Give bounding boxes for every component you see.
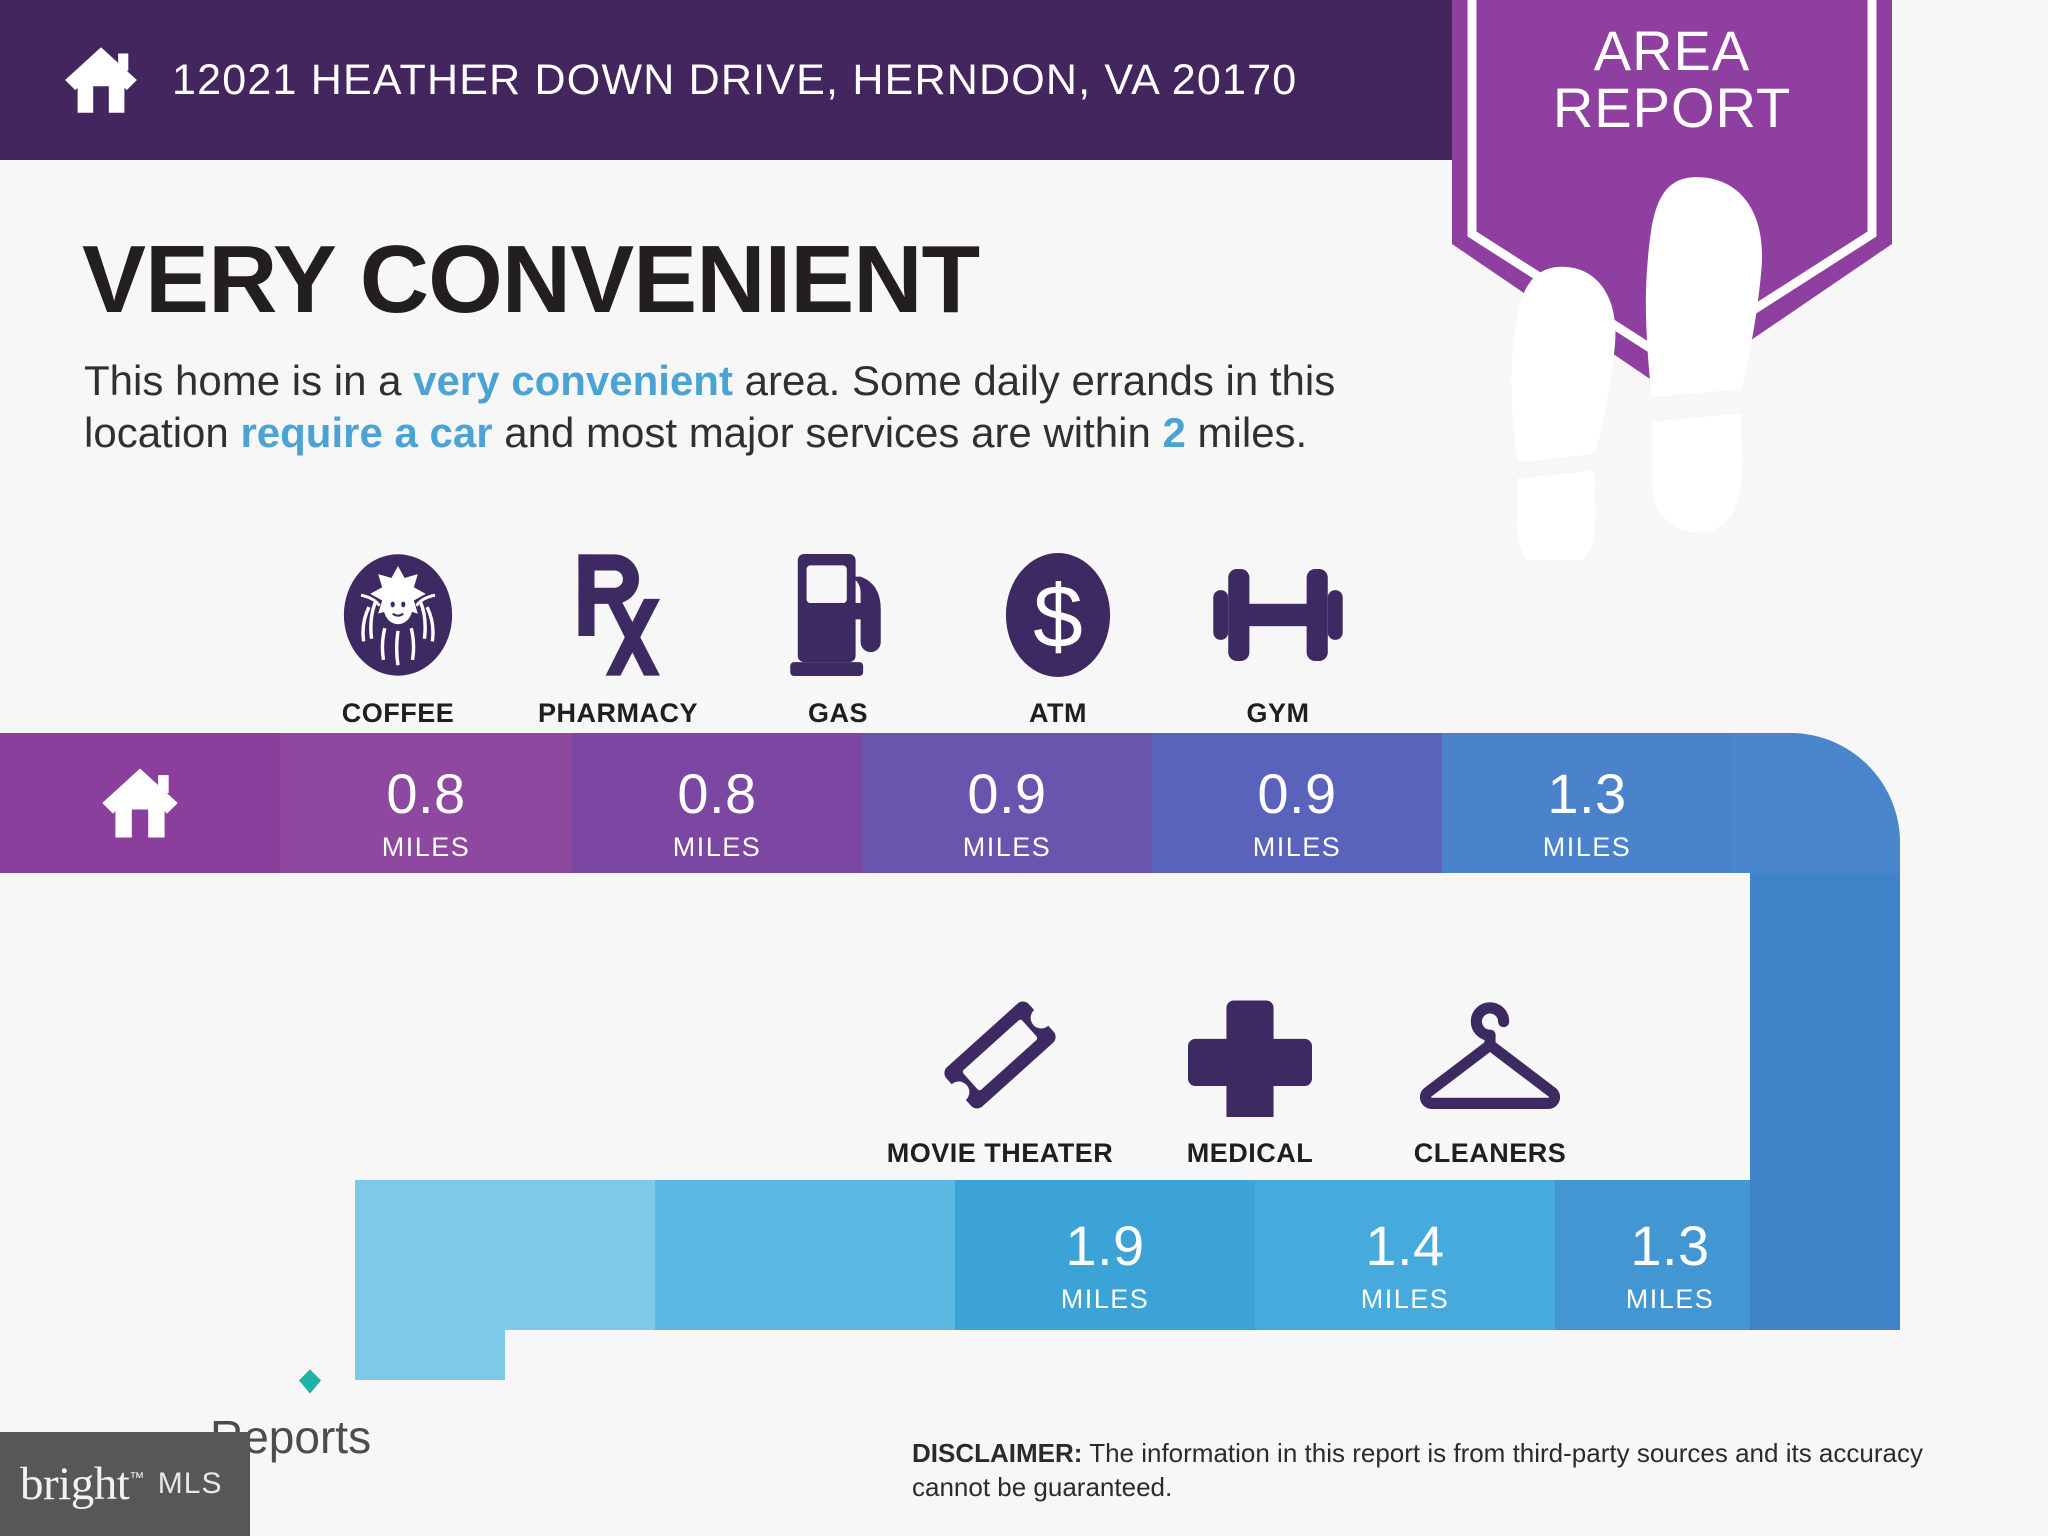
badge-title: AREA REPORT [1452, 22, 1892, 136]
footprints-icon [1452, 169, 1892, 560]
summary-highlight-2: require a car [240, 409, 492, 456]
badge-line-2: REPORT [1452, 79, 1892, 136]
mls-suffix: MLS [158, 1467, 223, 1501]
disclaimer-label: DISCLAIMER: [912, 1438, 1082, 1468]
distance-value: 0.8 [572, 766, 862, 822]
amenity-medical: MEDICAL [1140, 980, 1360, 1169]
distance-unit: MILES [955, 1286, 1255, 1313]
summary-text-3: and most major services are within [493, 409, 1163, 456]
brand-mark-icon [288, 1365, 332, 1414]
area-report-page: 12021 HEATHER DOWN DRIVE, HERNDON, VA 20… [0, 0, 2048, 1536]
header-bar: 12021 HEATHER DOWN DRIVE, HERNDON, VA 20… [0, 0, 1536, 160]
page-title: VERY CONVENIENT [82, 232, 979, 328]
distance-unit: MILES [1255, 1286, 1555, 1313]
badge-line-1: AREA [1452, 22, 1892, 79]
bright-mls-logo: bright™ MLS [0, 1432, 250, 1536]
distance-gym: 1.3 MILES [1442, 766, 1732, 861]
property-address: 12021 HEATHER DOWN DRIVE, HERNDON, VA 20… [172, 56, 1297, 105]
summary-highlight-3: 2 [1163, 409, 1186, 456]
summary-text-4: miles. [1186, 409, 1307, 456]
summary-highlight-1: very convenient [413, 357, 733, 404]
distance-value: 1.3 [1442, 766, 1732, 822]
distance-unit: MILES [1442, 834, 1732, 861]
distance-pharmacy: 0.8 MILES [572, 766, 862, 861]
distance-value: 0.8 [280, 766, 572, 822]
amenity-cleaners: CLEANERS [1370, 980, 1610, 1169]
rx-pharmacy-icon [498, 540, 738, 690]
summary-text-1: This home is in a [84, 357, 413, 404]
distance-unit: MILES [1152, 834, 1442, 861]
amenity-label: MEDICAL [1140, 1138, 1360, 1169]
distance-unit: MILES [572, 834, 862, 861]
gas-pump-icon [718, 540, 958, 690]
distance-value: 1.4 [1255, 1218, 1555, 1274]
medical-cross-icon [1140, 980, 1360, 1130]
amenity-icon-row-1: COFFEE PHARMACY [0, 540, 2048, 720]
distance-unit: MILES [862, 834, 1152, 861]
distance-value: 1.3 [1520, 1218, 1820, 1274]
distance-atm: 0.9 MILES [1152, 766, 1442, 861]
amenity-label: CLEANERS [1370, 1138, 1610, 1169]
distance-medical: 1.4 MILES [1255, 1218, 1555, 1313]
starbucks-coffee-icon [278, 540, 518, 690]
movie-ticket-icon [880, 980, 1120, 1130]
house-icon [62, 41, 140, 119]
distance-cleaners: 1.3 MILES [1520, 1218, 1820, 1313]
area-report-badge: AREA REPORT [1452, 0, 1892, 394]
distance-unit: MILES [280, 834, 572, 861]
amenity-icon-row-2: MOVIE THEATER MEDICAL CLEANERS [0, 980, 2048, 1160]
distance-unit: MILES [1520, 1286, 1820, 1313]
dollar-circle-icon: $ [938, 540, 1178, 690]
distance-value: 0.9 [862, 766, 1152, 822]
trademark-symbol: ™ [129, 1469, 144, 1486]
summary-paragraph: This home is in a very convenient area. … [84, 355, 1454, 459]
distance-coffee: 0.8 MILES [280, 766, 572, 861]
subject-home-cell [0, 733, 280, 873]
svg-text:$: $ [1033, 566, 1083, 666]
distance-value: 1.9 [955, 1218, 1255, 1274]
amenity-movie-theater: MOVIE THEATER [880, 980, 1120, 1169]
distance-gas: 0.9 MILES [862, 766, 1152, 861]
distance-movie-theater: 1.9 MILES [955, 1218, 1255, 1313]
distance-value: 0.9 [1152, 766, 1442, 822]
amenity-label: MOVIE THEATER [880, 1138, 1120, 1169]
house-icon [99, 762, 181, 844]
disclaimer: DISCLAIMER: The information in this repo… [912, 1437, 1982, 1505]
dumbbell-icon [1158, 540, 1398, 690]
clothes-hanger-icon [1370, 980, 1610, 1130]
